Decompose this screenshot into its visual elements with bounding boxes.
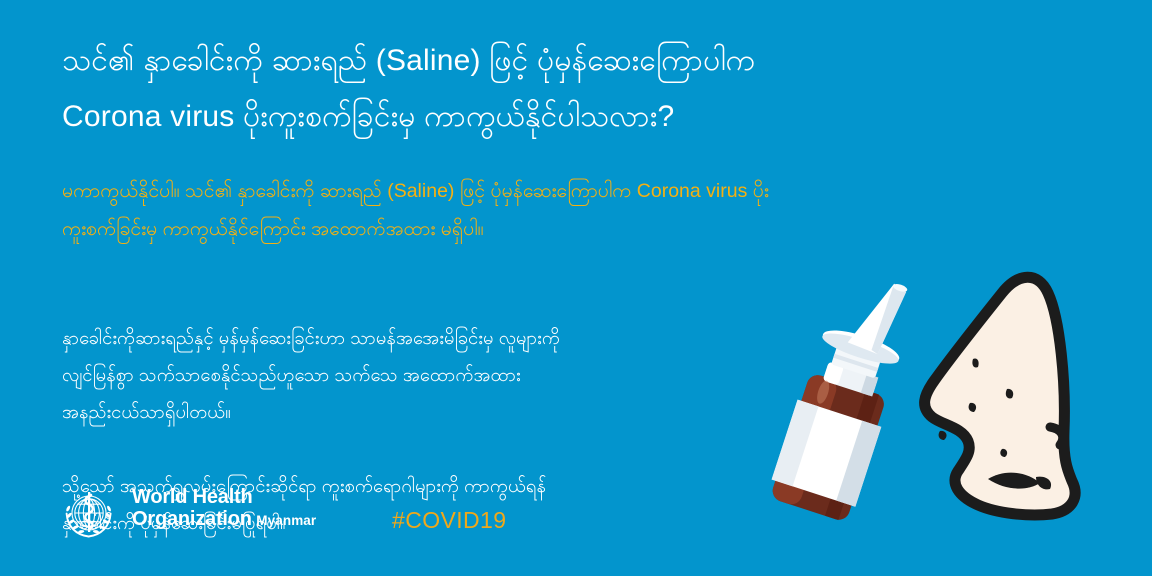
who-country-label: Myanmar [256, 513, 316, 528]
poster-canvas: သင်၏ နှာခေါင်းကို ဆားရည် (Saline) ဖြင့် … [0, 0, 1152, 576]
hashtag-label: #COVID19 [392, 507, 506, 534]
nasal-spray-bottle-illustration [766, 265, 925, 523]
illustration-group [720, 255, 1152, 555]
who-logo: World Health Organization Myanmar [57, 484, 316, 548]
who-organization-name: World Health Organization [132, 486, 253, 530]
body-paragraph-1: နှာခေါင်းကိုဆားရည်နှင့် မှန်မှန်ဆေးခြင်း… [62, 319, 762, 430]
answer-text: မကာကွယ်နိုင်ပါ။ သင်၏ နှာခေါင်းကို ဆားရည်… [62, 172, 1052, 248]
who-wordmark: World Health Organization Myanmar [132, 484, 316, 530]
page-title: သင်၏ နှာခေါင်းကို ဆားရည် (Saline) ဖြင့် … [62, 33, 1042, 145]
cartoon-nose-illustration [925, 277, 1075, 515]
who-emblem-icon [57, 484, 121, 548]
